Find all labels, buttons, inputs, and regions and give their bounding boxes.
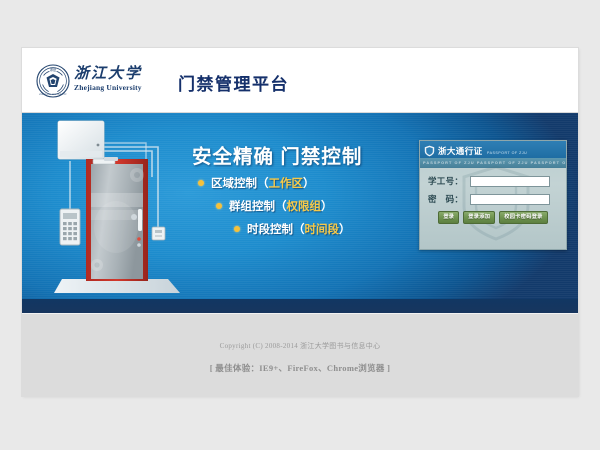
login-panel: 浙大通行证 PASSPORT OF ZJU PASSPORT OF ZJU PA… — [419, 140, 567, 250]
svg-text:ZHEJIANG UNIVERSITY: ZHEJIANG UNIVERSITY — [39, 93, 67, 96]
site-header: 求是 ZHEJIANG UNIVERSITY 浙江大学 Zhejiang Uni… — [22, 48, 578, 113]
paren-close: ） — [321, 198, 333, 214]
feature-detail: 工作区 — [269, 175, 304, 191]
feature-label: 群组控制 — [229, 198, 275, 214]
paren-close: ） — [339, 221, 351, 237]
zju-seal-icon: 求是 ZHEJIANG UNIVERSITY — [36, 64, 70, 98]
field-row-username: 学工号： — [428, 175, 566, 187]
username-input[interactable] — [470, 176, 550, 187]
page-title: 门禁管理平台 — [178, 70, 289, 95]
svg-text:求是: 求是 — [50, 67, 57, 72]
login-panel-subtitle: PASSPORT OF ZJU — [487, 151, 527, 155]
dot-icon — [234, 226, 240, 232]
hero-banner: 安全精确 门禁控制 区域控制 （ 工作区 ） 群组控制 （ 权限组 ） — [22, 113, 578, 313]
dot-icon — [198, 180, 204, 186]
login-button-row: 登录 登录添加 校园卡密码登录 — [420, 211, 566, 224]
site-footer: Copyright (C) 2008-2014 浙江大学图书与信息中心 [ 最佳… — [22, 313, 578, 397]
access-control-door-icon — [40, 117, 190, 302]
password-input[interactable] — [470, 194, 550, 205]
copyright-text: Copyright (C) 2008-2014 浙江大学图书与信息中心 — [22, 341, 578, 351]
banner-headline: 安全精确 门禁控制 — [192, 140, 402, 169]
list-item: 群组控制 （ 权限组 ） — [198, 198, 413, 214]
list-item: 区域控制 （ 工作区 ） — [198, 175, 413, 191]
paren-open: （ — [257, 175, 269, 191]
feature-detail: 权限组 — [287, 198, 322, 214]
feature-label: 时段控制 — [247, 221, 293, 237]
dot-icon — [216, 203, 222, 209]
paren-close: ） — [303, 175, 315, 191]
paren-open: （ — [293, 221, 305, 237]
login-form: 学工号： 密 码： 登录 登录添加 校园卡密码登录 — [420, 168, 566, 224]
university-name-en: Zhejiang University — [74, 83, 166, 93]
password-label: 密 码： — [428, 193, 470, 205]
login-panel-title: 浙大通行证 — [438, 146, 483, 156]
login-panel-titlebar: 浙大通行证 PASSPORT OF ZJU — [420, 141, 566, 158]
paren-open: （ — [275, 198, 287, 214]
feature-label: 区域控制 — [211, 175, 257, 191]
campus-card-login-button[interactable]: 校园卡密码登录 — [499, 211, 547, 224]
page-background: 求是 ZHEJIANG UNIVERSITY 浙江大学 Zhejiang Uni… — [0, 0, 600, 450]
browser-support-note: [ 最佳体验：IE9+、FireFox、Chrome浏览器 ] — [22, 362, 578, 374]
login-button[interactable]: 登录 — [438, 211, 459, 224]
banner-feature-list: 区域控制 （ 工作区 ） 群组控制 （ 权限组 ） 时段控制 （ 时间段 — [198, 175, 413, 244]
list-item: 时段控制 （ 时间段 ） — [198, 221, 413, 237]
content-card: 求是 ZHEJIANG UNIVERSITY 浙江大学 Zhejiang Uni… — [22, 48, 578, 396]
feature-detail: 时间段 — [305, 221, 340, 237]
field-row-password: 密 码： — [428, 193, 566, 205]
login-add-button[interactable]: 登录添加 — [463, 211, 495, 224]
university-wordmark: 浙江大学 Zhejiang University — [74, 66, 166, 93]
shield-icon — [424, 144, 435, 156]
university-name-cn: 浙江大学 — [74, 66, 166, 82]
username-label: 学工号： — [428, 175, 470, 187]
